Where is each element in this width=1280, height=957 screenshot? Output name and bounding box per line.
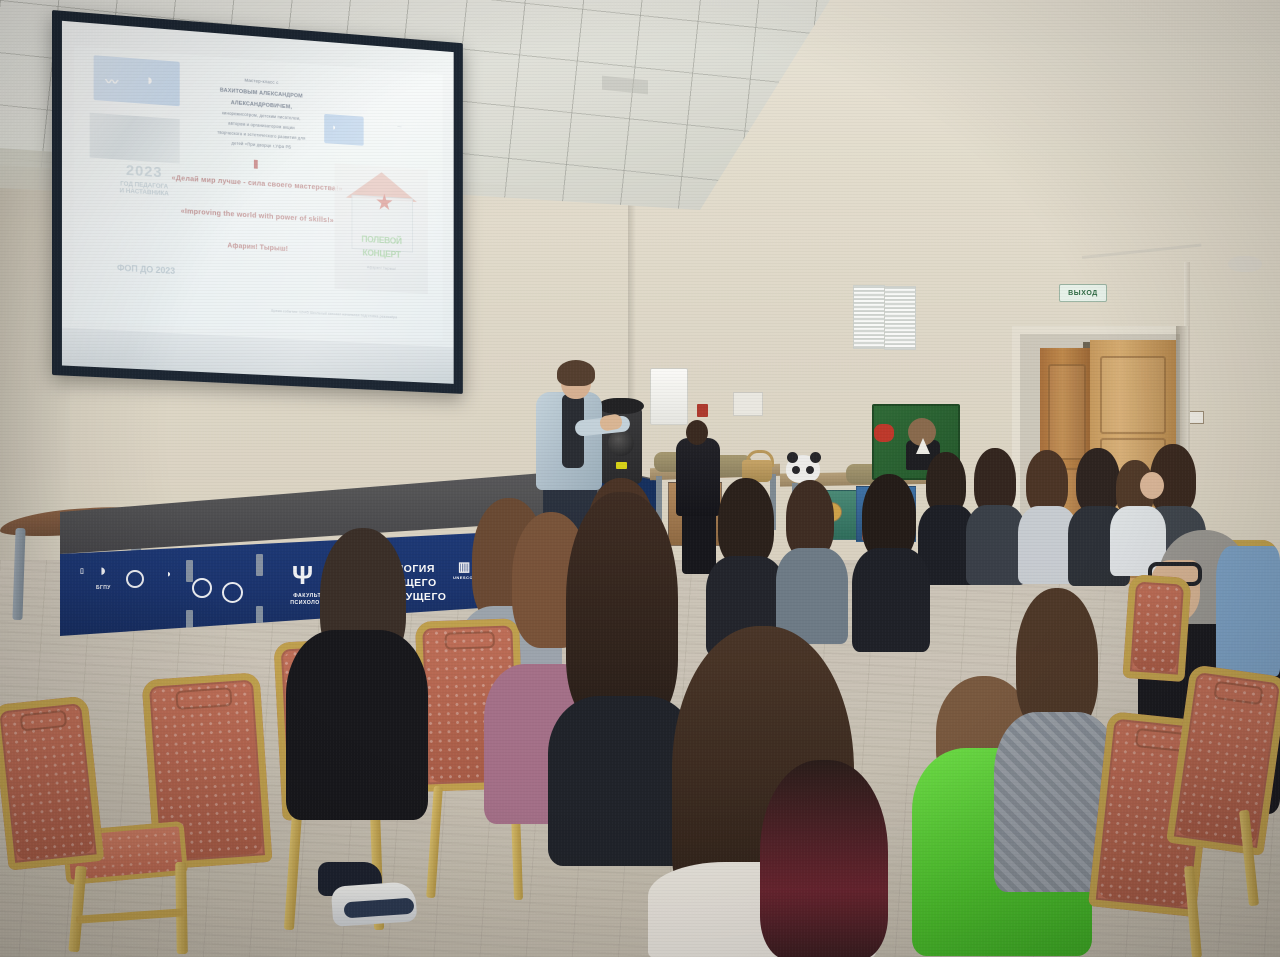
slide-logo-swirl-icon: 〰	[105, 71, 118, 91]
audience-hair	[1026, 450, 1068, 514]
slide-quote-bashkir: Афарин! Тырыш!	[180, 239, 335, 256]
slide-red-mark	[254, 160, 258, 169]
audience-head	[1140, 472, 1164, 499]
speaker-top-cap	[598, 398, 644, 414]
projection-screen: 〰 ◗ ◗ — Мастер-класс с ВАХИТОВЫМ АЛЕКСАН…	[52, 10, 463, 394]
slide-logo-droplet-icon: ◗	[145, 72, 154, 91]
assistant-legs	[682, 508, 716, 574]
stage-logo-flame-icon: ◗	[166, 570, 172, 580]
stage-mark-circle-2	[192, 578, 212, 598]
stage-logo-left-label: БГПУ	[96, 586, 111, 591]
stage-logo-bgpu-icon: ◗	[98, 562, 108, 579]
slide-right-mark-caption: —	[367, 122, 431, 132]
audience-torso	[852, 548, 930, 652]
smoke-detector	[1228, 256, 1262, 272]
projection-surface: 〰 ◗ ◗ — Мастер-класс с ВАХИТОВЫМ АЛЕКСАН…	[62, 21, 454, 384]
presenter-hair	[557, 360, 595, 386]
slide-year-logo: 2023 ГОД ПЕДАГОГА И НАСТАВНИКА	[101, 161, 188, 249]
stage-panel-bracket-2	[186, 610, 193, 630]
door-right-panel-top	[1100, 356, 1166, 434]
stage-mark-circle-1	[126, 570, 144, 588]
audience-hair	[786, 480, 834, 558]
assistant-head	[686, 420, 708, 445]
slide-logo-topleft: 〰 ◗	[93, 56, 180, 106]
audience-hair	[760, 760, 888, 957]
board-red-bow	[874, 424, 894, 442]
wall-vent-right	[884, 286, 916, 350]
audience-torso	[1216, 546, 1280, 676]
slide-poster: ПОЛЕВОЙ КОНЦЕРТ Афарин! Тырыш!	[335, 163, 428, 294]
audience-hair	[718, 478, 774, 566]
wall-vent-left	[853, 285, 885, 349]
stage-unesco-icon: ▥	[458, 560, 470, 573]
wall-mounted-box	[650, 368, 688, 425]
stage-mark-circle-3	[222, 582, 243, 603]
light-switch[interactable]	[1188, 411, 1204, 424]
stage-logo-tower-icon: ▯	[80, 568, 84, 575]
slide-photo-thumbnail	[89, 113, 180, 163]
presentation-slide: 〰 ◗ ◗ — Мастер-класс с ВАХИТОВЫМ АЛЕКСАН…	[74, 46, 442, 340]
panda-ear-right	[810, 452, 821, 463]
assistant-body	[676, 438, 720, 516]
exit-sign: ВЫХОД	[1059, 284, 1107, 302]
chair-handle-slot	[445, 631, 495, 650]
slide-quote-ru: «Делай мир лучше - сила своего мастерств…	[169, 173, 346, 193]
poster-credit: Афарин! Тырыш!	[338, 264, 424, 273]
panda-eye-right	[806, 466, 814, 474]
slide-program-label: ФОП ДО 2023	[97, 262, 195, 277]
slide-quote-en: «Improving the world with power of skill…	[169, 206, 346, 225]
slide-footer-note: Время события: 12ч45 Школьный кинозал на…	[269, 310, 400, 321]
stage-panel-bracket-1	[186, 560, 193, 582]
panda-ear-left	[787, 452, 798, 463]
audience-hair	[566, 492, 678, 724]
chair-pad	[1132, 584, 1182, 673]
wall-panel	[733, 392, 763, 416]
photo-scene: 〰 ◗ ◗ — Мастер-класс с ВАХИТОВЫМ АЛЕКСАН…	[0, 0, 1280, 957]
door-left-panel-top	[1048, 364, 1086, 460]
panda-eye-left	[792, 466, 800, 474]
fire-alarm-button[interactable]	[697, 404, 708, 417]
speaker-badge	[616, 462, 627, 469]
chair-pad	[1, 705, 94, 860]
audience-hair	[1076, 448, 1120, 514]
audience-torso	[286, 630, 428, 820]
stage-panel-bracket-3	[256, 554, 263, 576]
stage-panel-bracket-4	[256, 606, 263, 626]
audience-torso	[966, 505, 1026, 585]
stage-psi-symbol: Ψ	[292, 562, 313, 588]
speaker-cone	[608, 430, 634, 456]
